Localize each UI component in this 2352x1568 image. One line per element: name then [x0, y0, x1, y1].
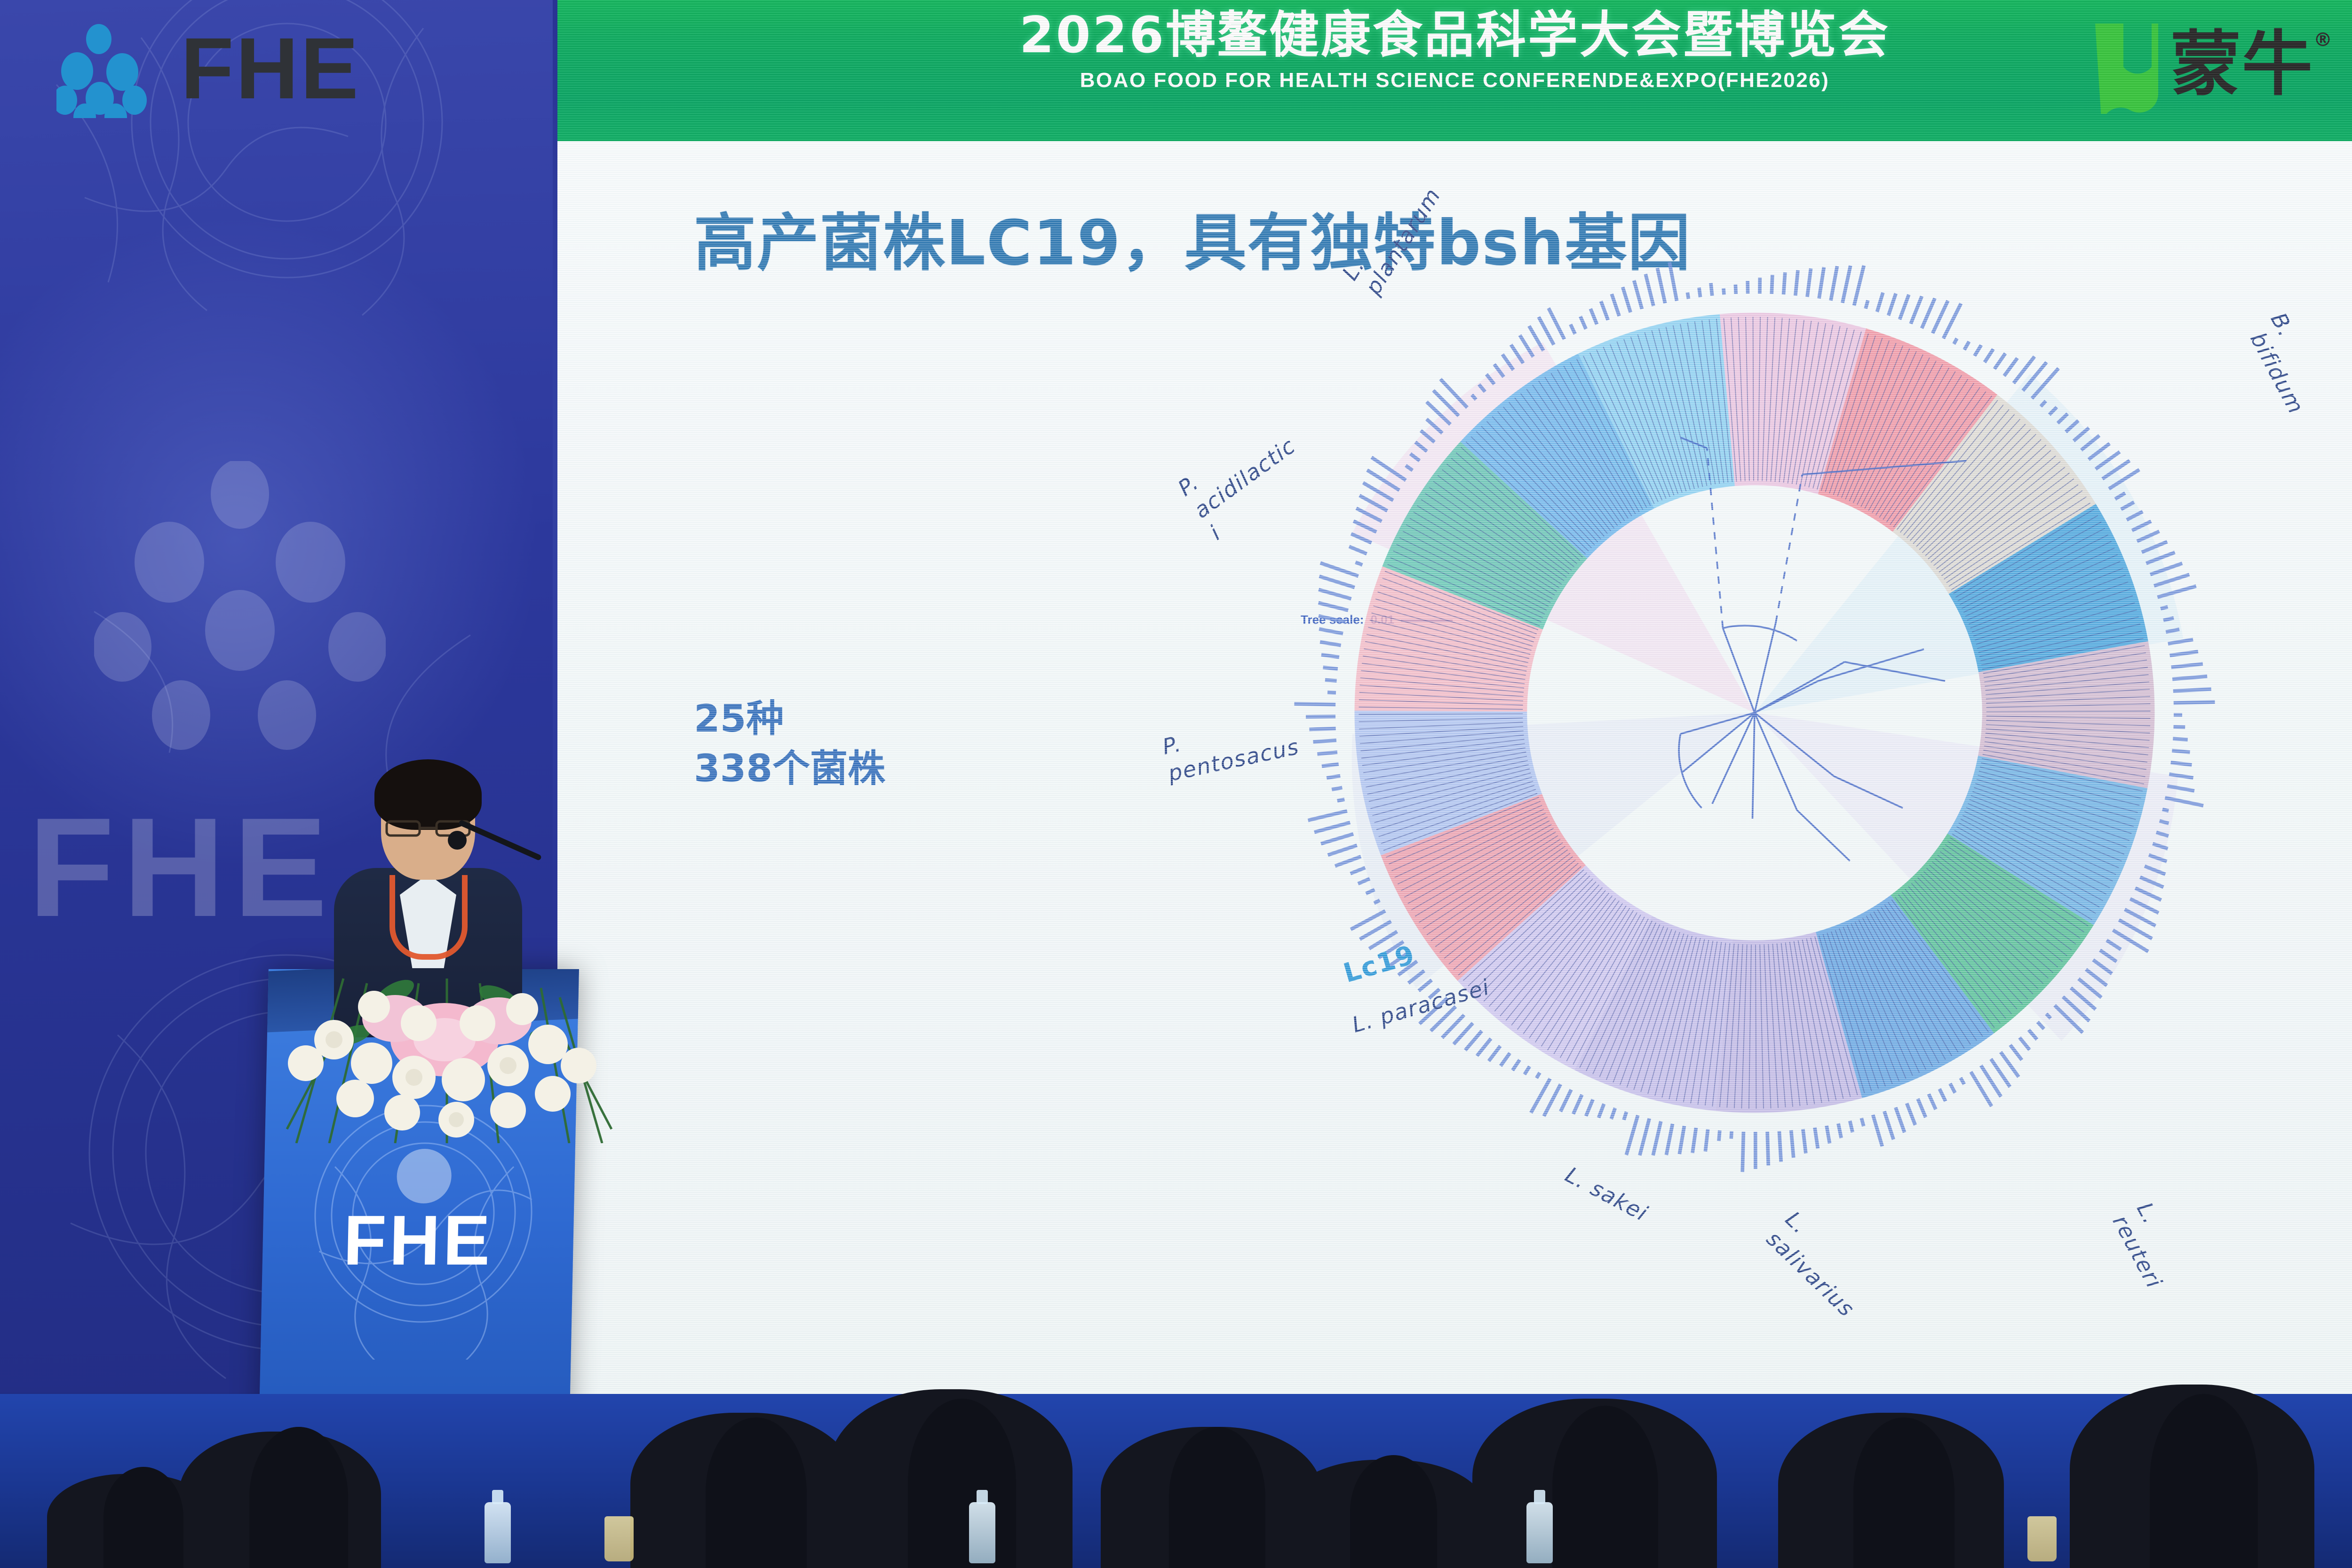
outer-bar: [1623, 287, 1631, 312]
fhe-logo: FHE: [56, 19, 360, 119]
outer-bar: [1807, 269, 1811, 297]
audience-member: [2150, 1394, 2258, 1568]
outer-bar: [1861, 1118, 1864, 1126]
outer-bar: [1929, 1094, 1936, 1109]
outer-bar: [1624, 1112, 1627, 1120]
outer-bar: [2170, 652, 2198, 655]
outer-bar: [2029, 1030, 2037, 1039]
outer-bar: [1954, 338, 1957, 344]
audience-member: [1552, 1406, 1658, 1568]
species-count: 25种: [694, 694, 885, 744]
outer-bar: [1939, 1089, 1946, 1101]
outer-bar: [1742, 1132, 1743, 1172]
outer-bar: [1351, 868, 1365, 873]
outer-bar: [1501, 1053, 1510, 1066]
phylogenetic-tree-chart: [1225, 183, 2284, 1242]
outer-bar: [1327, 776, 1340, 778]
outer-bar: [2172, 677, 2207, 679]
outer-bar: [1911, 296, 1922, 324]
outer-bar: [2161, 607, 2168, 609]
outer-bar: [1850, 1121, 1853, 1132]
outer-bar: [1539, 317, 1554, 345]
outer-bar: [1573, 1095, 1582, 1114]
outer-bar: [1679, 1126, 1684, 1154]
outer-bar: [1320, 642, 1341, 645]
audience-foreground: [0, 1239, 2352, 1568]
outer-bar: [1319, 589, 1351, 599]
outer-bar: [2162, 809, 2169, 811]
outer-bar: [1590, 309, 1597, 324]
water-bottle: [485, 1502, 511, 1563]
fhe-molecule-logo-icon: [56, 19, 165, 118]
outer-bar: [1964, 342, 1969, 350]
outer-bar: [1950, 1083, 1955, 1093]
outer-bar: [1465, 1031, 1482, 1050]
outer-bar: [1294, 704, 1335, 705]
outer-bar: [1512, 1060, 1519, 1070]
audience-member: [908, 1399, 1016, 1568]
outer-bar: [1325, 680, 1337, 681]
event-header-banner: 2026博鳌健康食品科学大会暨博览会 BOAO FOOD FOR HEALTH …: [557, 0, 2352, 141]
drinking-glass: [2027, 1516, 2057, 1561]
outer-bar: [1320, 563, 1359, 576]
outer-bar: [1634, 280, 1642, 309]
flower-arrangement: [278, 922, 621, 1143]
outer-bar: [1328, 845, 1357, 855]
outer-bar: [1601, 301, 1608, 320]
audience-member: [103, 1467, 183, 1568]
outer-bar: [2163, 618, 2174, 621]
outer-bar: [1884, 1111, 1894, 1139]
outer-bar: [1669, 263, 1677, 301]
mengniu-wordmark: 蒙牛®: [2170, 31, 2333, 98]
microphone-head-icon: [448, 831, 467, 850]
outer-bar: [1319, 576, 1355, 588]
outer-bar: [2173, 689, 2211, 691]
outer-bar: [1796, 270, 1798, 295]
fhe-wordmark: FHE: [181, 19, 360, 119]
outer-bar: [1922, 298, 1935, 328]
outer-bar: [1358, 879, 1370, 884]
outer-bar: [2171, 664, 2203, 667]
outer-bar: [1899, 294, 1908, 319]
outer-bar: [1581, 317, 1586, 329]
outer-bar: [2172, 750, 2190, 752]
outer-bar: [1784, 272, 1785, 294]
outer-bar: [1489, 1046, 1501, 1061]
outer-bar: [1803, 1129, 1806, 1153]
drinking-glass: [604, 1516, 634, 1561]
audience-member: [1853, 1417, 1955, 1568]
outer-bar: [1337, 799, 1344, 801]
outer-bar: [1640, 1118, 1649, 1155]
outer-bar: [1626, 1115, 1637, 1155]
outer-bar: [1335, 857, 1361, 866]
outer-bar: [1791, 1130, 1794, 1158]
outer-bar: [1314, 822, 1350, 832]
outer-bar: [2004, 358, 2017, 376]
outer-bar: [1666, 1124, 1672, 1155]
audience-member: [249, 1427, 348, 1568]
outer-bar: [1961, 1078, 1964, 1084]
outer-bar: [1815, 1128, 1818, 1149]
outer-bar: [1611, 1108, 1615, 1119]
outer-bar: [1321, 834, 1353, 844]
outer-bar: [1319, 603, 1348, 610]
outer-bar: [1724, 288, 1724, 294]
audience-member: [1169, 1427, 1265, 1568]
conference-photo: FHE FHE 2026博鳌健康食品科学大会暨博览会 BOAO FOOD FOR…: [0, 0, 2352, 1568]
outer-bar: [1308, 811, 1347, 820]
outer-bar: [1571, 325, 1575, 334]
outer-bar: [1719, 1130, 1720, 1141]
outer-bar: [1349, 547, 1367, 554]
circular-tree-svg: [1225, 183, 2284, 1242]
strain-count: 338个菌株: [694, 744, 885, 794]
outer-bar: [1586, 1099, 1593, 1116]
outer-bar: [1843, 266, 1851, 303]
fhe-molecule-icon: [94, 461, 386, 753]
outer-bar: [1319, 629, 1343, 634]
audience-member: [706, 1417, 807, 1568]
water-bottle: [969, 1502, 995, 1563]
outer-bar: [1767, 1132, 1768, 1166]
outer-bar: [1873, 1115, 1883, 1146]
outer-bar: [1819, 267, 1824, 299]
outer-bar: [1645, 274, 1653, 306]
outer-bar: [1598, 1104, 1604, 1117]
outer-bar: [1838, 1123, 1841, 1138]
outer-bar: [1711, 283, 1712, 296]
outer-bar: [1918, 1099, 1926, 1117]
outer-bar: [1687, 293, 1688, 299]
outer-bar: [1653, 1121, 1661, 1155]
projection-screen: 高产菌株LC19，具有独特bsh基因 25种 338个菌株 Tree scale…: [557, 141, 2352, 1397]
outer-bar: [2173, 739, 2187, 740]
outer-bar: [1888, 294, 1896, 316]
water-bottle: [1526, 1502, 1553, 1563]
outer-bar: [1332, 788, 1342, 789]
outer-bar: [1657, 268, 1665, 303]
outer-bar: [1699, 287, 1700, 297]
outer-bar: [1525, 1067, 1530, 1075]
outer-bar: [1854, 265, 1864, 305]
outer-bar: [1321, 655, 1339, 657]
outer-bar: [1309, 728, 1335, 729]
outer-bar: [1313, 740, 1336, 742]
event-title-en: BOAO FOOD FOR HEALTH SCIENCE CONFERENDE&…: [557, 69, 2352, 92]
outer-bar: [1319, 616, 1345, 622]
strain-count-annotation: 25种 338个菌株: [694, 694, 885, 793]
outer-bar: [1735, 285, 1736, 294]
registered-trademark-icon: ®: [2313, 29, 2333, 51]
sponsor-logo-mengniu: 蒙牛®: [2091, 15, 2333, 114]
outer-bar: [1692, 1128, 1696, 1153]
outer-bar: [1317, 752, 1337, 754]
outer-bar: [2010, 1045, 2022, 1060]
outer-bar: [1705, 1129, 1708, 1151]
outer-bar: [1549, 308, 1565, 339]
outer-bar: [1896, 1107, 1905, 1132]
outer-bar: [1356, 562, 1363, 565]
outer-bar: [1866, 300, 1868, 308]
outer-bar: [1560, 1090, 1571, 1112]
outer-bar: [1772, 275, 1772, 294]
audience-member: [1350, 1455, 1437, 1568]
outer-bar: [1779, 1131, 1781, 1162]
outer-bar: [1907, 1103, 1915, 1125]
outer-bar: [1831, 266, 1837, 301]
outer-bar: [1306, 716, 1335, 717]
outer-bar: [1975, 345, 1981, 356]
outer-bar: [1827, 1126, 1830, 1144]
outer-bar: [1536, 1073, 1540, 1078]
outer-bar: [2173, 727, 2185, 727]
outer-bar: [1323, 668, 1338, 669]
outer-bar: [1322, 764, 1339, 766]
outer-bar: [2019, 1037, 2029, 1050]
outer-bar: [2160, 821, 2169, 823]
outer-bar: [2038, 1022, 2044, 1029]
outer-bar: [1477, 1039, 1491, 1056]
outer-bar: [2001, 1052, 2018, 1077]
outer-bar: [1612, 294, 1619, 316]
header-text-block: 2026博鳌健康食品科学大会暨博览会 BOAO FOOD FOR HEALTH …: [557, 10, 2352, 92]
outer-bar: [1877, 293, 1883, 312]
outer-bar: [1374, 900, 1380, 903]
outer-bar: [1544, 1084, 1560, 1116]
outer-bar: [2174, 702, 2215, 703]
event-title-cn: 2026博鳌健康食品科学大会暨博览会: [557, 10, 2352, 60]
outer-bar: [1932, 301, 1947, 333]
outer-bar: [1731, 1131, 1732, 1139]
outer-bar: [1994, 353, 2005, 369]
outer-bar: [1327, 692, 1336, 693]
mengniu-mark-icon: [2091, 15, 2162, 114]
outer-bar: [2171, 763, 2192, 765]
outer-bar: [1985, 349, 1994, 362]
outer-bar: [1454, 1023, 1473, 1044]
